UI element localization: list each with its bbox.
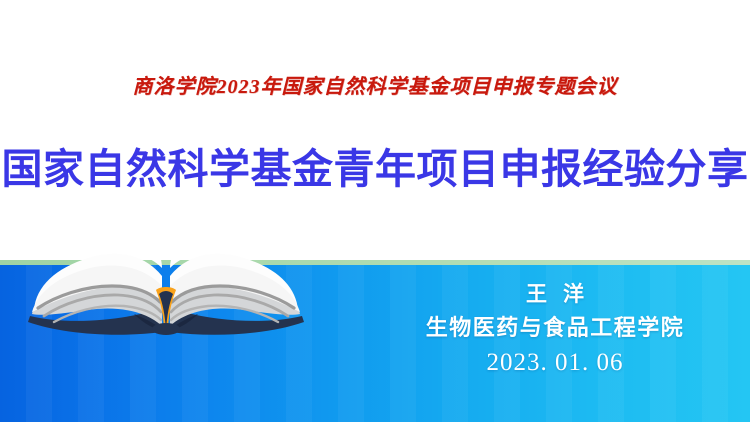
open-book-icon bbox=[16, 228, 316, 346]
page-title: 国家自然科学基金青年项目申报经验分享 bbox=[0, 135, 750, 195]
presenter-info: 王洋 生物医药与食品工程学院 2023. 01. 06 bbox=[390, 282, 720, 377]
presenter-name: 王洋 bbox=[390, 282, 720, 308]
presentation-slide: 商洛学院2023年国家自然科学基金项目申报专题会议 国家自然科学基金青年项目申报… bbox=[0, 0, 750, 422]
presentation-date: 2023. 01. 06 bbox=[390, 348, 720, 377]
slide-upper-white-area bbox=[0, 0, 750, 262]
presenter-department: 生物医药与食品工程学院 bbox=[390, 314, 720, 341]
conference-subtitle: 商洛学院2023年国家自然科学基金项目申报专题会议 bbox=[0, 70, 750, 99]
